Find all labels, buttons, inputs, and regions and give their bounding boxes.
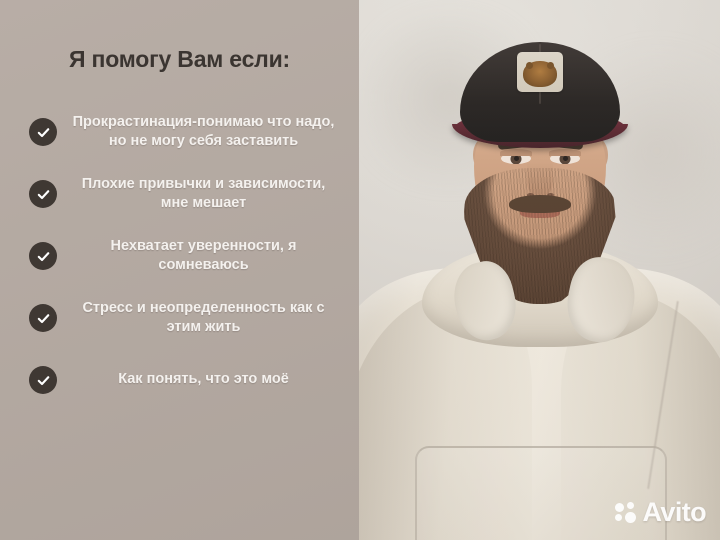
- check-circle-icon: [29, 366, 57, 394]
- check-circle-icon: [29, 118, 57, 146]
- check-circle-icon: [29, 242, 57, 270]
- avito-wordmark: Avito: [643, 499, 707, 526]
- list-item: Нехватает уверенности, я сомневаюсь: [0, 236, 359, 276]
- list-item: Стресс и неопределенность как с этим жит…: [0, 298, 359, 338]
- portrait-photo: [359, 0, 720, 540]
- page-title: Я помогу Вам если:: [0, 47, 359, 72]
- left-content-panel: Я помогу Вам если: Прокрастинация-понима…: [0, 0, 359, 540]
- benefits-list: Прокрастинация-понимаю что надо, но не м…: [0, 112, 359, 400]
- check-circle-icon: [29, 180, 57, 208]
- cap-animal-patch: [517, 52, 563, 92]
- eyelid-right: [549, 149, 581, 156]
- person-figure: [359, 0, 720, 540]
- tiger-patch-icon: [523, 61, 557, 87]
- check-circle-icon: [29, 304, 57, 332]
- slide-canvas: Я помогу Вам если: Прокрастинация-понима…: [0, 0, 720, 540]
- avito-dots-logo: [615, 502, 637, 524]
- eyelid-left: [500, 149, 532, 156]
- list-item: Прокрастинация-понимаю что надо, но не м…: [0, 112, 359, 152]
- list-item: Как понять, что это моё: [0, 360, 359, 400]
- avito-watermark: Avito: [615, 499, 707, 526]
- list-item: Плохие привычки и зависимости, мне мешае…: [0, 174, 359, 214]
- mustache: [509, 195, 571, 213]
